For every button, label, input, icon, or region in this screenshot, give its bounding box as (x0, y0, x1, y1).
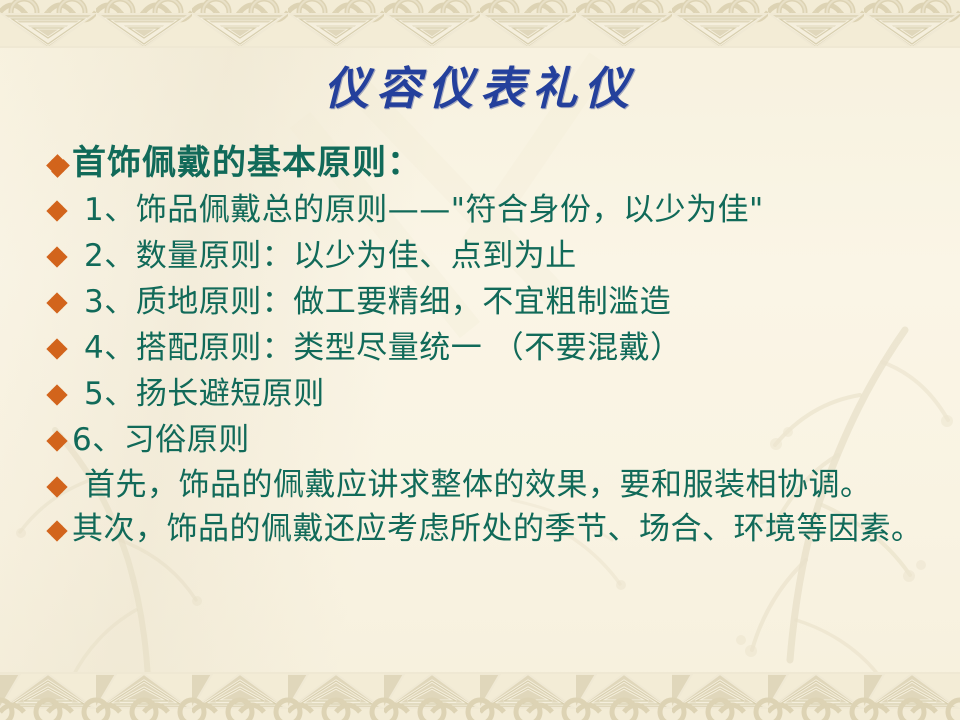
quad-diamond-bullet-icon (42, 464, 72, 504)
list-item-text: 2、数量原则：以少为佳、点到为止 (72, 234, 932, 278)
quad-diamond-bullet-icon (42, 372, 72, 412)
list-item-text: 3、质地原则：做工要精细，不宜粗制滥造 (72, 280, 932, 324)
slide-title: 仪容仪表礼仪 (0, 52, 960, 117)
quad-diamond-bullet-icon (42, 140, 72, 186)
list-item-text: 首饰佩戴的基本原则： (72, 140, 932, 186)
list-item: 3、质地原则：做工要精细，不宜粗制滥造 (42, 280, 932, 324)
quad-diamond-bullet-icon (42, 188, 72, 228)
quad-diamond-bullet-icon (42, 234, 72, 274)
list-item: 4、搭配原则：类型尽量统一 （不要混戴） (42, 326, 932, 370)
list-item-text: 其次，饰品的佩戴还应考虑所处的季节、场合、环境等因素。 (72, 508, 932, 550)
list-item-text: 首先，饰品的佩戴应讲求整体的效果，要和服装相协调。 (72, 464, 932, 506)
presentation-slide: 仪容仪表礼仪 首饰佩戴的基本原则： 1、饰品佩戴总的原则——"符合身份，以少为佳… (0, 0, 960, 720)
list-item-text: 4、搭配原则：类型尽量统一 （不要混戴） (72, 326, 932, 370)
list-item: 首饰佩戴的基本原则： (42, 140, 932, 186)
list-item: 6、习俗原则 (42, 418, 932, 462)
list-item: 1、饰品佩戴总的原则——"符合身份，以少为佳" (42, 188, 932, 232)
quad-diamond-bullet-icon (42, 280, 72, 320)
list-item-text: 1、饰品佩戴总的原则——"符合身份，以少为佳" (72, 188, 932, 232)
list-item: 其次，饰品的佩戴还应考虑所处的季节、场合、环境等因素。 (42, 508, 932, 550)
quad-diamond-bullet-icon (42, 508, 72, 548)
top-decorative-border (0, 0, 960, 48)
list-item: 首先，饰品的佩戴应讲求整体的效果，要和服装相协调。 (42, 464, 932, 506)
list-item: 2、数量原则：以少为佳、点到为止 (42, 234, 932, 278)
quad-diamond-bullet-icon (42, 326, 72, 366)
bottom-decorative-border (0, 672, 960, 720)
list-item-text: 5、扬长避短原则 (72, 372, 932, 416)
list-item-text: 6、习俗原则 (72, 418, 932, 462)
quad-diamond-bullet-icon (42, 418, 72, 458)
bullet-list: 首饰佩戴的基本原则： 1、饰品佩戴总的原则——"符合身份，以少为佳" 2、数量原… (42, 140, 932, 552)
list-item: 5、扬长避短原则 (42, 372, 932, 416)
